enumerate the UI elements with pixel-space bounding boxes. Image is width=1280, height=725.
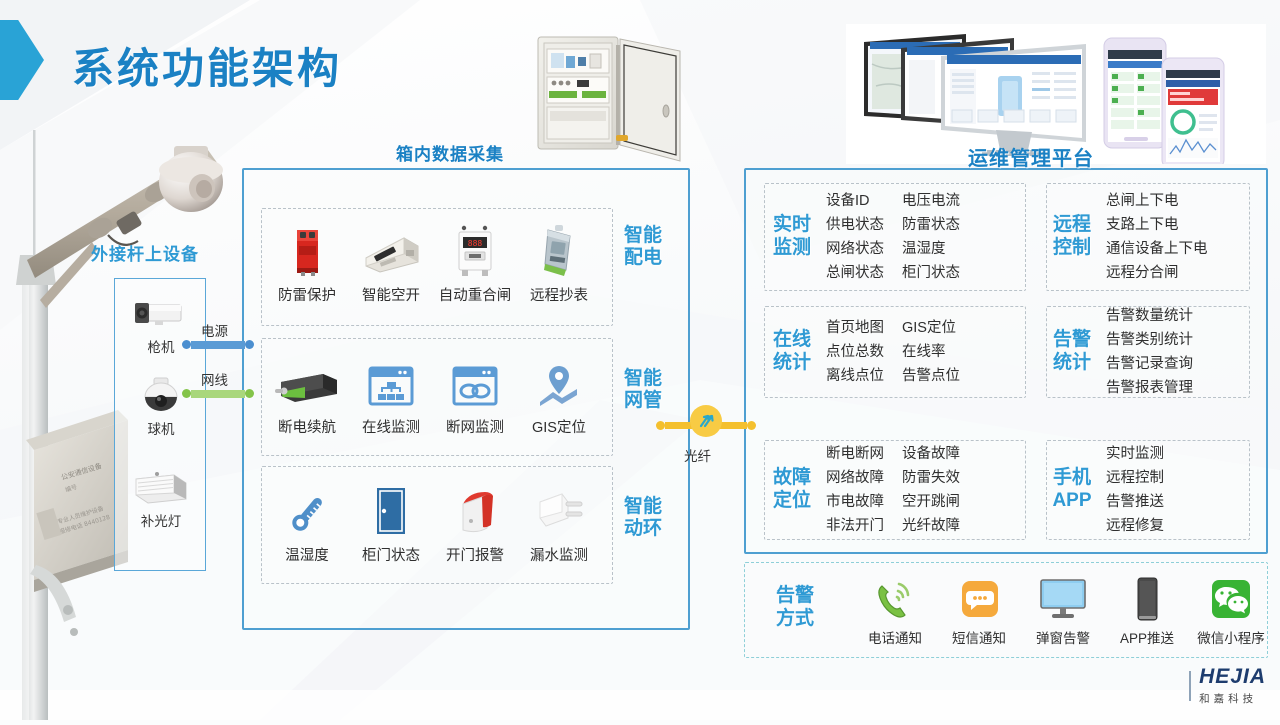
feature-item: 网络状态	[826, 238, 884, 260]
device-label: 断网监测	[433, 416, 517, 437]
alarm-method-label: 短信通知	[940, 627, 1018, 647]
alarm-methods-title: 告警 方式	[776, 585, 814, 631]
feature-item: 离线点位	[826, 365, 884, 387]
feature-item: 首页地图	[826, 317, 884, 339]
logo-subtitle: 和嘉科技	[1199, 691, 1266, 706]
device-door-alarm: 开门报警	[433, 478, 517, 565]
feature-column: 电压电流 防雷状态 温湿度 柜门状态	[902, 190, 960, 284]
platform-caption: 运维管理平台	[968, 142, 1094, 171]
alarm-method-label: 电话通知	[856, 627, 934, 647]
smart-breaker-icon	[349, 218, 433, 276]
monitor-popup-icon	[1024, 574, 1102, 624]
fill-light-icon	[115, 467, 207, 509]
page-title: 系统功能架构	[72, 35, 342, 96]
group-title-mobile-app: 手机 APP	[1050, 467, 1094, 513]
alarm-method-sms: 短信通知	[940, 574, 1018, 647]
device-label: 漏水监测	[517, 544, 601, 565]
alarm-method-label: 微信小程序	[1192, 627, 1270, 647]
feature-item: 远程控制	[1106, 467, 1164, 489]
category-label-network-management: 智能网管	[624, 368, 666, 413]
remote-control-content: 远程 控制 总闸上下电 支路上下电 通信设备上下电 远程分合闸	[1050, 188, 1246, 286]
feature-column: 首页地图 点位总数 离线点位	[826, 317, 884, 387]
feature-column: 设备故障 防雷失效 空开跳闸 光纤故障	[902, 443, 960, 537]
feature-column: 总闸上下电 支路上下电 通信设备上下电 远程分合闸	[1106, 190, 1208, 284]
feature-item: 电压电流	[902, 190, 960, 212]
feature-item: 告警推送	[1106, 491, 1164, 513]
feature-item: 告警记录查询	[1106, 353, 1193, 375]
group-title-remote-control: 远程 控制	[1050, 214, 1094, 260]
feature-item: 光纤故障	[902, 515, 960, 537]
surge-protector-icon	[265, 218, 349, 276]
pole-devices-caption: 外接杆上设备	[91, 240, 199, 265]
device-ups-battery: 断电续航	[265, 350, 349, 437]
water-leak-icon	[517, 478, 601, 536]
device-surge-protector: 防雷保护	[265, 218, 349, 305]
feature-column: 断电断网 网络故障 市电故障 非法开门	[826, 443, 884, 537]
device-label: 在线监测	[349, 416, 433, 437]
feature-item: 设备故障	[902, 443, 960, 465]
device-smart-breaker: 智能空开	[349, 218, 433, 305]
distribution-cabinet-photo	[520, 25, 695, 170]
alarm-method-popup: 弹窗告警	[1024, 574, 1102, 647]
device-label: 断电续航	[265, 416, 349, 437]
feature-item: 远程修复	[1106, 515, 1164, 537]
realtime-monitor-content: 实时 监测 设备ID 供电状态 网络状态 总闸状态 电压电流 防雷状态 温湿度 …	[770, 188, 1020, 286]
device-label: 防雷保护	[265, 284, 349, 305]
alarm-method-wechat: 微信小程序	[1192, 574, 1270, 647]
feature-item: 断电断网	[826, 443, 884, 465]
alarm-method-app-push: APP推送	[1108, 574, 1186, 647]
svg-text:888: 888	[468, 239, 483, 248]
group-title-online-statistics: 在线 统计	[770, 329, 814, 375]
feature-item: 点位总数	[826, 341, 884, 363]
online-statistics-content: 在线 统计 首页地图 点位总数 离线点位 GIS定位 在线率 告警点位	[770, 311, 1020, 393]
remote-meter-icon	[517, 218, 601, 276]
smartphone-icon	[1108, 574, 1186, 624]
ups-battery-icon	[265, 350, 349, 408]
feature-item: 通信设备上下电	[1106, 238, 1208, 260]
device-label: 温湿度	[265, 544, 349, 565]
environment-monitoring-items: 温湿度 柜门状态 开门报警	[265, 478, 601, 565]
thermometer-icon	[265, 478, 349, 536]
device-remote-meter: 远程抄表	[517, 218, 601, 305]
feature-column: GIS定位 在线率 告警点位	[902, 317, 960, 387]
auto-recloser-icon: 888	[433, 218, 517, 276]
device-thermometer: 温湿度	[265, 478, 349, 565]
feature-item: 支路上下电	[1106, 214, 1208, 236]
device-auto-recloser: 888 自动重合闸	[433, 218, 517, 305]
power-distribution-items: 防雷保护 智能空开 888	[265, 218, 601, 305]
feature-item: 防雷状态	[902, 214, 960, 236]
network-connector-line	[182, 389, 254, 398]
feature-item: GIS定位	[902, 317, 960, 339]
device-online-monitor: 在线监测	[349, 350, 433, 437]
power-connector-label: 电源	[201, 320, 228, 340]
group-title-fault-location: 故障 定位	[770, 467, 814, 513]
device-label: GIS定位	[517, 416, 601, 437]
feature-item: 告警点位	[902, 365, 960, 387]
logo-name: HEJIA	[1199, 666, 1266, 687]
logo-divider	[1189, 671, 1191, 701]
device-network-down: 断网监测	[433, 350, 517, 437]
network-connector-label: 网线	[201, 369, 228, 389]
pole-devices-box: 枪机 球机 补光灯	[114, 278, 206, 571]
feature-item: 非法开门	[826, 515, 884, 537]
door-alarm-icon	[433, 478, 517, 536]
category-label-environment: 智能动环	[624, 496, 666, 541]
feature-item: 总闸上下电	[1106, 190, 1208, 212]
feature-item: 网络故障	[826, 467, 884, 489]
device-cabinet-door: 柜门状态	[349, 478, 433, 565]
device-water-leak: 漏水监测	[517, 478, 601, 565]
network-management-items: 断电续航 在线监测 断网监测	[265, 350, 601, 437]
feature-item: 防雷失效	[902, 467, 960, 489]
feature-column: 实时监测 远程控制 告警推送 远程修复	[1106, 443, 1164, 537]
feature-item: 总闸状态	[826, 262, 884, 284]
feature-item: 远程分合闸	[1106, 262, 1208, 284]
device-label: 远程抄表	[517, 284, 601, 305]
fault-location-content: 故障 定位 断电断网 网络故障 市电故障 非法开门 设备故障 防雷失效 空开跳闸…	[770, 445, 1020, 535]
online-monitor-icon	[349, 350, 433, 408]
device-label: 智能空开	[349, 284, 433, 305]
mobile-app-content: 手机 APP 实时监测 远程控制 告警推送 远程修复	[1050, 445, 1246, 535]
feature-item: 告警类别统计	[1106, 329, 1193, 351]
phone-call-icon	[856, 574, 934, 624]
feature-item: 设备ID	[826, 190, 884, 212]
device-label: 自动重合闸	[433, 284, 517, 305]
pole-device-label: 补光灯	[115, 510, 207, 530]
box-collection-caption: 箱内数据采集	[396, 140, 504, 165]
feature-item: 供电状态	[826, 214, 884, 236]
sms-bubble-icon	[940, 574, 1018, 624]
feature-item: 柜门状态	[902, 262, 960, 284]
feature-item: 空开跳闸	[902, 491, 960, 513]
company-logo: HEJIA 和嘉科技	[1189, 666, 1266, 706]
pole-device-dome-camera: 球机	[115, 375, 207, 438]
feature-item: 告警数量统计	[1106, 305, 1193, 327]
group-title-alarm-statistics: 告警 统计	[1050, 329, 1094, 375]
pole-device-label: 球机	[115, 418, 207, 438]
pole-device-fill-light: 补光灯	[115, 467, 207, 530]
device-gis-pin: GIS定位	[517, 350, 601, 437]
alarm-statistics-content: 告警 统计 告警数量统计 告警类别统计 告警记录查询 告警报表管理	[1050, 311, 1246, 393]
network-down-icon	[433, 350, 517, 408]
feature-item: 温湿度	[902, 238, 960, 260]
device-label: 开门报警	[433, 544, 517, 565]
alarm-method-label: 弹窗告警	[1024, 627, 1102, 647]
wechat-icon	[1192, 574, 1270, 624]
alarm-method-label: APP推送	[1108, 627, 1186, 647]
group-title-realtime-monitor: 实时 监测	[770, 214, 814, 260]
bullet-camera-icon	[115, 293, 207, 335]
feature-item: 在线率	[902, 341, 960, 363]
feature-column: 告警数量统计 告警类别统计 告警记录查询 告警报表管理	[1106, 305, 1193, 399]
feature-column: 设备ID 供电状态 网络状态 总闸状态	[826, 190, 884, 284]
alarm-methods-items: 电话通知 短信通知 弹窗告警	[856, 574, 1270, 647]
power-connector-line	[182, 340, 254, 349]
category-label-power-distribution: 智能配电	[624, 225, 666, 270]
device-label: 柜门状态	[349, 544, 433, 565]
feature-item: 市电故障	[826, 491, 884, 513]
fiber-arrows-icon	[690, 405, 722, 437]
alarm-method-phone: 电话通知	[856, 574, 934, 647]
feature-item: 告警报表管理	[1106, 377, 1193, 399]
cabinet-door-icon	[349, 478, 433, 536]
fiber-label: 光纤	[684, 445, 711, 465]
feature-item: 实时监测	[1106, 443, 1164, 465]
gis-pin-icon	[517, 350, 601, 408]
